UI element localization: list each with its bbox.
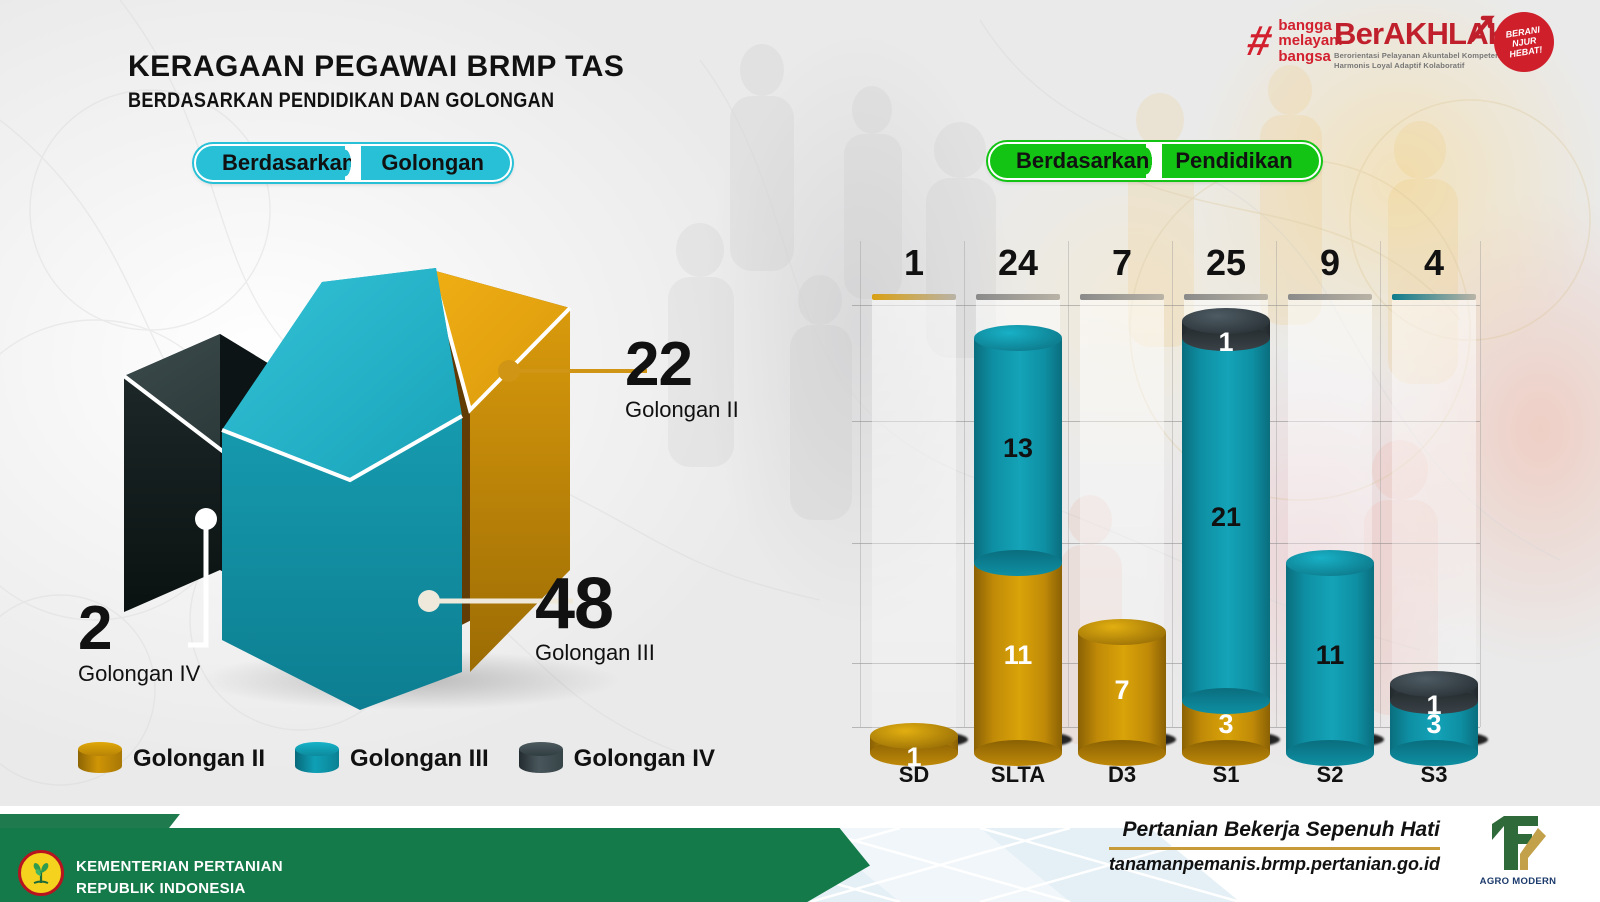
bar-total-label: 9 bbox=[1274, 242, 1386, 284]
bar-segment-bottom-ellipse bbox=[1390, 740, 1478, 766]
bar-segment[interactable]: 11 bbox=[1286, 550, 1374, 753]
cylinder-icon bbox=[519, 742, 563, 776]
callout-golongan-2: 22 Golongan II bbox=[625, 336, 739, 423]
bar-segment-value: 7 bbox=[1078, 675, 1166, 706]
legend-item[interactable]: Golongan IV bbox=[519, 742, 715, 776]
bangga-line2: melayani bbox=[1278, 33, 1342, 48]
footer-website[interactable]: tanamanpemanis.brmp.pertanian.go.id bbox=[1109, 854, 1440, 875]
pill-berdasarkan-golongan[interactable]: Berdasarkan Golongan bbox=[194, 144, 512, 182]
bangga-melayani-bangsa-logo: # bangga melayani bangsa bbox=[1248, 18, 1343, 64]
pill-berdasarkan-pendidikan[interactable]: Berdasarkan Pendidikan bbox=[988, 142, 1321, 180]
plant-icon bbox=[26, 858, 56, 888]
callout-golongan-2-label: Golongan II bbox=[625, 397, 739, 423]
bar-segment-value: 1 bbox=[1390, 690, 1478, 721]
footer-divider bbox=[1109, 847, 1440, 850]
bangga-text: bangga melayani bangsa bbox=[1278, 18, 1342, 64]
bar-track-cap bbox=[1184, 294, 1268, 300]
footer-slogan-block: Pertanian Bekerja Sepenuh Hati tanamanpe… bbox=[1109, 818, 1440, 875]
bar-segment-value: 13 bbox=[974, 433, 1062, 464]
agro-modern-logo: AGRO MODERN bbox=[1466, 812, 1570, 887]
pill-notch bbox=[1146, 142, 1162, 180]
agro-mark-icon bbox=[1482, 812, 1554, 874]
bar-segment-value: 21 bbox=[1182, 502, 1270, 533]
bar-segment[interactable]: 1 bbox=[1390, 671, 1478, 701]
callout-golongan-4-label: Golongan IV bbox=[78, 661, 200, 687]
pill-golongan-suffix: Golongan bbox=[381, 150, 484, 176]
footer-slogan: Pertanian Bekerja Sepenuh Hati bbox=[1109, 818, 1440, 842]
bar-track-cap bbox=[872, 294, 956, 300]
bar-track-cap bbox=[1080, 294, 1164, 300]
callout-golongan-4-value: 2 bbox=[78, 600, 200, 659]
pie-legend: Golongan II Golongan III Golongan IV bbox=[78, 742, 715, 776]
berani-njur-hebat-badge: BERANI NJUR HEBAT! bbox=[1494, 12, 1554, 72]
bar-segment-value: 1 bbox=[1182, 327, 1270, 358]
bar-segment-bottom-ellipse bbox=[1182, 740, 1270, 766]
bar-segment[interactable]: 11 bbox=[974, 550, 1062, 753]
bar-total-label: 7 bbox=[1066, 242, 1178, 284]
bar-segment-bottom-ellipse bbox=[1078, 740, 1166, 766]
bar-segment[interactable]: 21 bbox=[1182, 325, 1270, 701]
bar-segment[interactable]: 13 bbox=[974, 325, 1062, 563]
bar-total-label: 24 bbox=[962, 242, 1074, 284]
legend-item[interactable]: Golongan II bbox=[78, 742, 265, 776]
hash-icon: # bbox=[1244, 20, 1276, 62]
bar-segment-value: 1 bbox=[870, 742, 958, 773]
bar-total-label: 4 bbox=[1378, 242, 1490, 284]
bangga-line3: bangsa bbox=[1278, 49, 1342, 64]
bar-segment-bottom-ellipse bbox=[1182, 688, 1270, 714]
pill-notch bbox=[345, 144, 361, 182]
callout-golongan-4: 2 Golongan IV bbox=[78, 600, 200, 687]
bar-segment-top-ellipse bbox=[1286, 550, 1374, 576]
bar-total-label: 25 bbox=[1170, 242, 1282, 284]
pill-golongan-prefix: Berdasarkan bbox=[222, 150, 355, 176]
legend-label: Golongan II bbox=[133, 745, 265, 773]
cylinder-icon bbox=[78, 742, 122, 776]
bangga-line1: bangga bbox=[1278, 18, 1342, 33]
legend-label: Golongan IV bbox=[574, 745, 715, 773]
infographic-canvas: KERAGAAN PEGAWAI BRMP TAS BERDASARKAN PE… bbox=[0, 0, 1600, 902]
bar-segment-value: 11 bbox=[974, 640, 1062, 671]
legend-label: Golongan III bbox=[350, 745, 489, 773]
bar-segment[interactable]: 1 bbox=[870, 723, 958, 753]
pill-pendidikan-suffix: Pendidikan bbox=[1175, 148, 1292, 174]
bar-track bbox=[872, 296, 956, 740]
bar-segment-top-ellipse bbox=[1078, 619, 1166, 645]
callout-golongan-3-label: Golongan III bbox=[535, 640, 655, 666]
berakhlak-tagline: Berorientasi Pelayanan Akuntabel Kompete… bbox=[1334, 51, 1509, 71]
bar-track-cap bbox=[1392, 294, 1476, 300]
pill-pendidikan-prefix: Berdasarkan bbox=[1016, 148, 1149, 174]
bar-segment-value: 11 bbox=[1286, 640, 1374, 671]
kementan-logo bbox=[18, 850, 64, 896]
cylinder-icon bbox=[295, 742, 339, 776]
agro-modern-label: AGRO MODERN bbox=[1466, 876, 1570, 887]
bar-total-label: 1 bbox=[858, 242, 970, 284]
callout-golongan-2-value: 22 bbox=[625, 336, 739, 395]
badge-text: BERANI NJUR HEBAT! bbox=[1505, 24, 1544, 59]
bar-segment-bottom-ellipse bbox=[1286, 740, 1374, 766]
callout-golongan-3: 48 Golongan III bbox=[535, 570, 655, 666]
page-subtitle: BERDASARKAN PENDIDIKAN DAN GOLONGAN bbox=[128, 89, 555, 113]
ministry-line1: KEMENTERIAN PERTANIAN bbox=[76, 856, 283, 878]
page-title-block: KERAGAAN PEGAWAI BRMP TAS BERDASARKAN PE… bbox=[128, 50, 624, 113]
page-title: KERAGAAN PEGAWAI BRMP TAS bbox=[128, 50, 624, 84]
callout-golongan-3-value: 48 bbox=[535, 570, 655, 638]
bar-track-cap bbox=[976, 294, 1060, 300]
bar-segment-bottom-ellipse bbox=[974, 550, 1062, 576]
bar-segment-bottom-ellipse bbox=[974, 740, 1062, 766]
berakhlak-tagline-line1: Berorientasi Pelayanan Akuntabel Kompete… bbox=[1334, 51, 1509, 61]
bar-track-cap bbox=[1288, 294, 1372, 300]
berakhlak-swoosh-icon bbox=[1470, 14, 1496, 44]
berakhlak-tagline-line2: Harmonis Loyal Adaptif Kolaboratif bbox=[1334, 61, 1509, 71]
ministry-text: KEMENTERIAN PERTANIAN REPUBLIK INDONESIA bbox=[76, 856, 283, 900]
legend-item[interactable]: Golongan III bbox=[295, 742, 489, 776]
bar-segment[interactable]: 1 bbox=[1182, 308, 1270, 338]
ministry-line2: REPUBLIK INDONESIA bbox=[76, 878, 283, 900]
bar-segment[interactable]: 7 bbox=[1078, 619, 1166, 753]
